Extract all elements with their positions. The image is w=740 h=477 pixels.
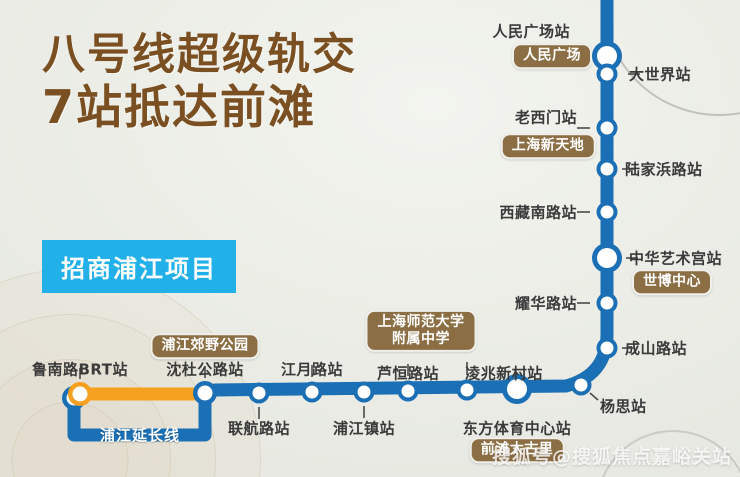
- station-label-renmin-guangchang: 人民广场站: [492, 21, 570, 42]
- station-label-jiangyue-lu: 江月路站: [281, 359, 343, 380]
- station-dot-inner-dashijie: [601, 68, 614, 81]
- station-label-lunan-lu-brt: 鲁南路BRT站: [32, 359, 128, 380]
- station-dot-inner-lunanlu-brt: [73, 387, 88, 402]
- station-dot-inner-lianhanglu: [253, 387, 266, 400]
- headline-block: 八号线超级轨交 7站抵达前滩: [42, 33, 357, 132]
- station-tag-renmin-guangchang: 人民广场: [512, 43, 592, 69]
- station-label-pujiang-zhen: 浦江镇站: [333, 418, 395, 439]
- station-tag-shanghai-xintiandi: 上海新天地: [501, 133, 596, 159]
- station-label-lujiabang-lu: 陆家浜路站: [625, 159, 703, 180]
- station-dot-inner-lujiabang: [601, 163, 614, 176]
- branch-line-label: 浦江延长线: [100, 425, 180, 446]
- station-dot-inner-shendugonglu: [198, 386, 213, 401]
- station-label-dongfang-tiyu-zhongxin: 东方体育中心站: [463, 418, 572, 439]
- station-tag-shibo-zhongxin: 世博中心: [632, 269, 712, 295]
- station-label-lianhang-lu: 联航路站: [228, 418, 290, 439]
- metro-line-infographic: 八号线超级轨交 7站抵达前滩 招商浦江项目: [0, 0, 740, 477]
- station-tag-pujiang-jiaoye-gongyuan: 浦江郊野公园: [151, 333, 260, 359]
- station-dot-inner-yaohualu: [601, 297, 614, 310]
- station-label-luheng-lu: 芦恒路站: [377, 363, 439, 384]
- station-label-shendu-gonglu: 沈杜公路站: [166, 359, 244, 380]
- station-label-laoximen: 老西门站: [515, 107, 577, 128]
- station-label-xizang-nan-lu: 西藏南路站: [499, 202, 577, 223]
- station-tag-line-2: 附属中学: [378, 331, 465, 348]
- headline-line-1: 八号线超级轨交: [42, 33, 357, 78]
- station-label-yangsi: 杨思站: [600, 396, 647, 417]
- station-dot-inner-zhonghuayishugong: [597, 248, 617, 268]
- station-dot-inner-yangsi: [575, 379, 588, 392]
- station-dot-inner-xizangnanlu: [601, 206, 614, 219]
- station-dot-inner-renmin-guangchang: [597, 46, 617, 66]
- station-dot-inner-pujiangzhen: [358, 386, 371, 399]
- station-tag-shishida-fuzhong: 上海师范大学 附属中学: [366, 310, 477, 352]
- project-badge: 招商浦江项目: [42, 240, 236, 293]
- station-dot-inner-luhenglu: [402, 385, 415, 398]
- station-label-dashijie: 大世界站: [629, 64, 691, 85]
- station-tag-line-1: 上海师范大学: [378, 314, 465, 331]
- station-dot-inner-jiangyuelu: [306, 386, 319, 399]
- station-dot-inner-laoximen: [601, 122, 614, 135]
- station-label-zhonghua-yishugong: 中华艺术宫站: [629, 248, 722, 269]
- station-dot-inner-lingzhaoxincun: [461, 384, 474, 397]
- headline-line-2: 7站抵达前滩: [42, 84, 357, 132]
- station-label-lingzhao-xincun: 凌兆新村站: [465, 363, 543, 384]
- station-label-yaohua-lu: 耀华路站: [515, 293, 577, 314]
- station-dot-inner-chengshanlu: [601, 342, 614, 355]
- watermark: 搜狐号@搜狐焦点嘉峪关站: [492, 442, 732, 469]
- station-label-chengshan-lu: 成山路站: [625, 338, 687, 359]
